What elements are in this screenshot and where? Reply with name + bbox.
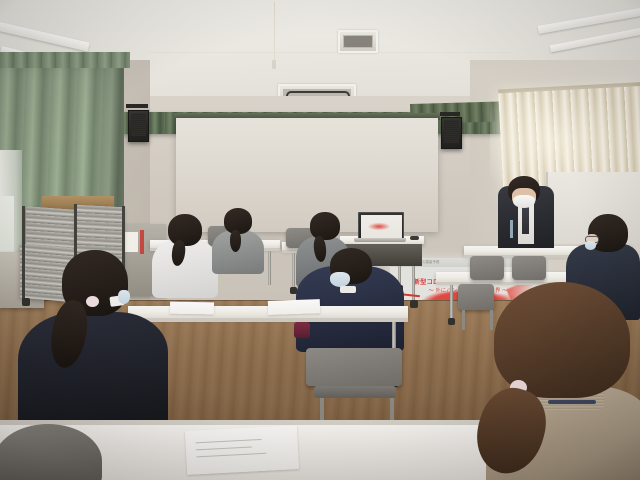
chair[interactable] (306, 348, 402, 386)
chair[interactable] (512, 256, 546, 280)
attendee-beige-necklace (548, 400, 596, 404)
table-leg (450, 285, 453, 319)
attendee-ponytail-tie (86, 296, 99, 307)
speaker-left-icon (128, 110, 149, 142)
attendee-navy-collar (340, 286, 356, 293)
laptop-icon[interactable] (358, 212, 404, 239)
chair-leg (462, 310, 465, 330)
chair-seat (314, 386, 396, 398)
trolley-post-1 (22, 206, 25, 302)
handout-paper[interactable] (268, 299, 320, 315)
attendee-hoodie-mask (585, 241, 596, 250)
ceiling-hanging-wire (274, 2, 275, 64)
presenter-mask (513, 195, 535, 208)
foreground-table-left-edge (128, 318, 408, 322)
attendee-navy-mask (330, 272, 350, 287)
ceiling-seam-2 (150, 52, 510, 53)
table-leg (268, 251, 271, 285)
trolley-caster-1 (22, 298, 30, 306)
speaker-bracket-left (126, 104, 148, 108)
cabinet-marker (140, 230, 144, 254)
mouse-icon[interactable] (410, 236, 419, 240)
chair[interactable] (470, 256, 504, 280)
speaker-bracket-right (440, 112, 460, 116)
ceiling-sensor (272, 60, 276, 69)
attendee-ponytail-body (18, 312, 168, 430)
table-caster (448, 318, 455, 325)
attendee-white-hair (168, 214, 202, 246)
speaker-right-icon (441, 117, 462, 149)
chair-leg (490, 310, 493, 330)
handout-paper-near[interactable] (185, 425, 299, 475)
attendee-center-hair (310, 212, 340, 240)
av-cart-caster (410, 300, 418, 308)
chair[interactable] (458, 284, 494, 310)
attendee-navy-sleeve (294, 322, 310, 338)
laptop-base (354, 238, 406, 242)
handout-paper-2[interactable] (170, 302, 214, 315)
table-leg (292, 253, 295, 287)
ceiling-vent-small (338, 30, 378, 53)
green-curtain-rail (0, 52, 130, 68)
presenter-lanyard (510, 220, 513, 238)
classroom-photo: 新型コロナウイルス感染予防 新型コロナウイルスから身を守る方法 〜 外にパンを取… (0, 0, 640, 480)
attendee-ponytail-mask (118, 290, 130, 304)
attendee-gray-ponytail (230, 230, 241, 252)
